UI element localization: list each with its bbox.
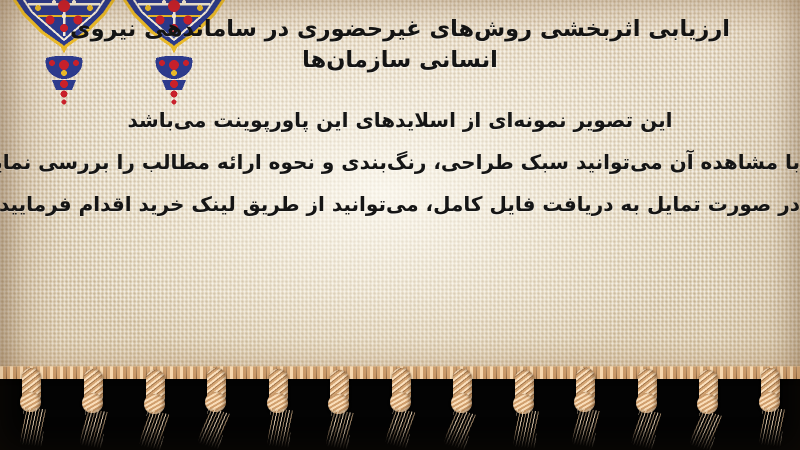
fringe-tassel xyxy=(265,369,291,445)
fringe-brush xyxy=(571,407,599,448)
fringe-tassel xyxy=(80,369,106,445)
fringe-brush xyxy=(139,409,170,450)
fringe-tassel xyxy=(18,368,44,444)
fringe-tassel xyxy=(388,368,414,444)
fringe-tassel xyxy=(142,370,168,446)
fringe-tassel xyxy=(203,368,229,444)
fringe-brush xyxy=(267,408,293,448)
fringe-tassel xyxy=(572,368,598,444)
slide-title-line-2: انسانی سازمان‌ها xyxy=(0,45,800,76)
slide-body-line-1: این تصویر نمونه‌ای از اسلایدهای این پاور… xyxy=(0,110,800,131)
fringe-brush xyxy=(79,408,107,449)
fringe-brush xyxy=(689,409,722,450)
fringe-tassel xyxy=(757,368,783,444)
slide-title-line-1: ارزیابی اثربخشی روش‌های غیرحضوری در ساما… xyxy=(0,14,800,45)
slide-body-line-2: با مشاهده آن می‌توانید سبک طراحی، رنگ‌بن… xyxy=(0,152,800,173)
fringe-brush xyxy=(325,409,353,450)
fringe-brush xyxy=(513,409,539,449)
carpet-fringe-band xyxy=(0,366,800,450)
slide-body-line-3: در صورت تمایل به دریافت فایل کامل، می‌تو… xyxy=(0,194,800,215)
fringe-tassel xyxy=(634,369,660,445)
fringe-brush xyxy=(759,407,785,447)
fringe-tassel xyxy=(511,370,537,446)
fringe-tassel xyxy=(695,370,721,446)
fringe-brush xyxy=(197,407,230,450)
slide-title: ارزیابی اثربخشی روش‌های غیرحضوری در ساما… xyxy=(0,14,800,76)
fringe-tassel xyxy=(449,369,475,445)
slide-canvas: ارزیابی اثربخشی روش‌های غیرحضوری در ساما… xyxy=(0,0,800,450)
fringe-tassel xyxy=(326,370,352,446)
slide-body: این تصویر نمونه‌ای از اسلایدهای این پاور… xyxy=(0,110,800,236)
fringe-brush xyxy=(385,407,416,449)
fringe-brush xyxy=(20,407,46,447)
fringe-brush xyxy=(631,408,662,450)
fringe-brush xyxy=(443,408,476,450)
